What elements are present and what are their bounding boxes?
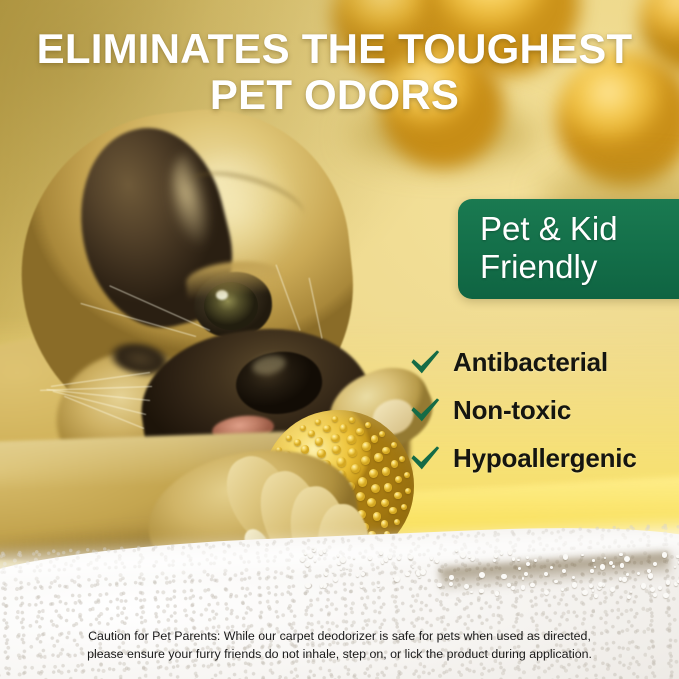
powder-crumb (435, 559, 439, 563)
page-title: ELIMINATES THE TOUGHEST PET ODORS (0, 26, 661, 118)
powder-crumb (530, 583, 534, 587)
list-item: Non-toxic (408, 386, 679, 434)
powder-crumb (308, 553, 313, 558)
powder-crumb (626, 573, 629, 576)
list-item-label: Antibacterial (453, 347, 608, 378)
ball-nub (374, 453, 383, 462)
powder-crumb (494, 554, 498, 558)
ball-nub (367, 498, 376, 507)
ball-nub (405, 488, 411, 494)
powder-crumb (337, 562, 340, 565)
powder-crumb (572, 582, 578, 588)
powder-crumb (332, 571, 334, 573)
powder-crumb (526, 556, 529, 559)
ball-nub (351, 464, 361, 474)
powder-crumb (524, 572, 528, 576)
powder-crumb (360, 585, 363, 588)
ball-nub (340, 424, 348, 432)
list-item: Antibacterial (408, 338, 679, 386)
powder-crumb (650, 587, 655, 592)
powder-crumb (562, 569, 567, 574)
ball-nub (391, 460, 399, 468)
powder-crumb (333, 577, 338, 582)
powder-crumb (449, 582, 453, 586)
ball-nub (391, 442, 397, 448)
powder-crumb (594, 594, 599, 599)
powder-crumb (449, 575, 454, 580)
powder-crumb (397, 556, 401, 560)
feature-list: Antibacterial Non-toxic Hypoallergenic (408, 338, 679, 482)
powder-crumb (384, 557, 389, 562)
ball-nub (300, 425, 306, 431)
powder-crumb (361, 572, 365, 576)
powder-crumb (479, 572, 485, 578)
ball-nub (381, 520, 389, 528)
powder-crumb (627, 595, 632, 600)
powder-crumb (544, 590, 550, 596)
powder-crumb (464, 584, 469, 589)
caution-line-2: please ensure your furry friends do not … (0, 645, 679, 663)
powder-crumb (405, 572, 409, 576)
powder-crumb (418, 575, 421, 578)
powder-crumb (493, 559, 496, 562)
powder-crumb (412, 566, 414, 568)
ball-nub (373, 512, 382, 521)
check-icon (408, 441, 442, 475)
powder-crumb (561, 588, 564, 591)
ball-nub (384, 483, 393, 492)
powder-crumb (554, 580, 558, 584)
ball-nub (315, 419, 321, 425)
ball-nub (332, 445, 341, 454)
powder-crumb (394, 576, 400, 582)
powder-crumb (637, 572, 640, 575)
ball-nub (379, 431, 385, 437)
powder-crumb (666, 580, 671, 585)
powder-crumb (674, 566, 677, 569)
powder-crumb (620, 563, 624, 567)
powder-crumb (437, 583, 441, 587)
powder-crumb (641, 583, 647, 589)
ball-nub (356, 492, 366, 502)
powder-crumb (572, 576, 576, 580)
powder-crumb (312, 547, 314, 549)
powder-crumb (653, 562, 657, 566)
ball-nub (337, 457, 347, 467)
powder-crumb (612, 565, 615, 568)
badge-label: Pet & Kid Friendly (480, 210, 618, 286)
ball-nub (371, 484, 380, 493)
powder-crumb (408, 555, 412, 559)
powder-crumb (622, 577, 627, 582)
pet-kid-friendly-badge: Pet & Kid Friendly (458, 199, 679, 299)
product-marketing-image: ELIMINATES THE TOUGHEST PET ODORS Pet & … (0, 0, 679, 679)
powder-crumb (388, 554, 393, 559)
ball-nub (365, 422, 371, 428)
powder-crumb (526, 562, 530, 566)
powder-crumb (534, 559, 537, 562)
ball-nub (394, 492, 402, 500)
powder-crumb (624, 556, 630, 562)
ball-nub (332, 416, 338, 422)
powder-crumb (592, 589, 595, 592)
powder-crumb (582, 590, 588, 596)
powder-crumb (320, 584, 324, 588)
powder-crumb (470, 591, 472, 593)
powder-crumb (324, 572, 328, 576)
check-icon (408, 393, 442, 427)
powder-crumb (455, 549, 458, 552)
list-item-label: Non-toxic (453, 395, 571, 426)
powder-crumb (647, 569, 651, 573)
ball-nub (308, 430, 316, 438)
powder-crumb (521, 585, 526, 590)
powder-crumb (522, 577, 525, 580)
powder-crumb (662, 552, 667, 557)
powder-crumb (323, 549, 326, 552)
powder-crumb (430, 556, 434, 560)
powder-crumb (592, 559, 595, 562)
powder-crumb (604, 557, 606, 559)
check-icon (408, 345, 442, 379)
list-item: Hypoallergenic (408, 434, 679, 482)
powder-crumb (379, 551, 384, 556)
powder-crumb (300, 557, 305, 562)
ball-nub (381, 499, 390, 508)
ball-nub (361, 456, 370, 465)
deodorizer-powder-crumbs (300, 540, 679, 600)
ball-nub (356, 428, 364, 436)
powder-crumb (610, 587, 615, 592)
powder-crumb (563, 554, 568, 559)
ball-nub (348, 448, 357, 457)
powder-crumb (517, 559, 519, 561)
ball-nub (394, 519, 400, 525)
powder-crumb (600, 564, 606, 570)
powder-crumb (353, 557, 355, 559)
ball-nub (294, 439, 302, 447)
powder-crumb (511, 586, 515, 590)
powder-crumb (460, 552, 466, 558)
powder-crumb (663, 593, 669, 599)
powder-crumb (590, 569, 594, 573)
powder-crumb (648, 573, 654, 579)
ball-nub (395, 476, 403, 484)
ball-nub (315, 437, 324, 446)
powder-crumb (512, 557, 516, 561)
powder-crumb (305, 583, 311, 589)
ball-nub (323, 425, 331, 433)
powder-crumb (304, 552, 307, 555)
ball-nub (399, 456, 405, 462)
ball-nub (347, 435, 356, 444)
powder-crumb (501, 574, 507, 580)
powder-crumb (508, 550, 513, 555)
ball-nub (317, 449, 326, 458)
list-item-label: Hypoallergenic (453, 443, 637, 474)
powder-crumb (550, 566, 553, 569)
powder-crumb (544, 572, 548, 576)
ball-nub (382, 447, 390, 455)
ball-nub (382, 467, 391, 476)
ball-nub (369, 469, 378, 478)
powder-crumb (305, 562, 310, 567)
powder-crumb (420, 569, 426, 575)
powder-crumb (658, 586, 662, 590)
powder-crumb (479, 589, 484, 594)
powder-crumb (594, 566, 596, 568)
powder-crumb (356, 574, 359, 577)
powder-crumb (518, 567, 521, 570)
powder-crumb (314, 559, 317, 562)
powder-crumb (337, 554, 339, 556)
powder-crumb (346, 567, 348, 569)
powder-crumb (581, 554, 584, 557)
ball-nub (286, 435, 292, 441)
ball-nub (349, 417, 355, 423)
ball-nub (389, 507, 397, 515)
powder-crumb (368, 556, 371, 559)
ball-nub (331, 434, 340, 443)
headline-line-1: ELIMINATES THE TOUGHEST (0, 26, 661, 72)
powder-crumb (495, 591, 500, 596)
powder-crumb (589, 584, 593, 588)
ball-nub (362, 442, 371, 451)
powder-crumb (653, 593, 657, 597)
caution-line-1: Caution for Pet Parents: While our carpe… (0, 627, 679, 645)
powder-crumb (340, 557, 346, 563)
powder-crumb (340, 568, 342, 570)
powder-crumb (377, 585, 379, 587)
powder-crumb (619, 553, 623, 557)
powder-crumb (500, 552, 503, 555)
powder-crumb (630, 591, 632, 593)
ball-nub (371, 435, 379, 443)
caution-disclaimer: Caution for Pet Parents: While our carpe… (0, 627, 679, 663)
ball-nub (358, 477, 368, 487)
ball-nub (401, 504, 407, 510)
headline-line-2: PET ODORS (0, 72, 661, 118)
